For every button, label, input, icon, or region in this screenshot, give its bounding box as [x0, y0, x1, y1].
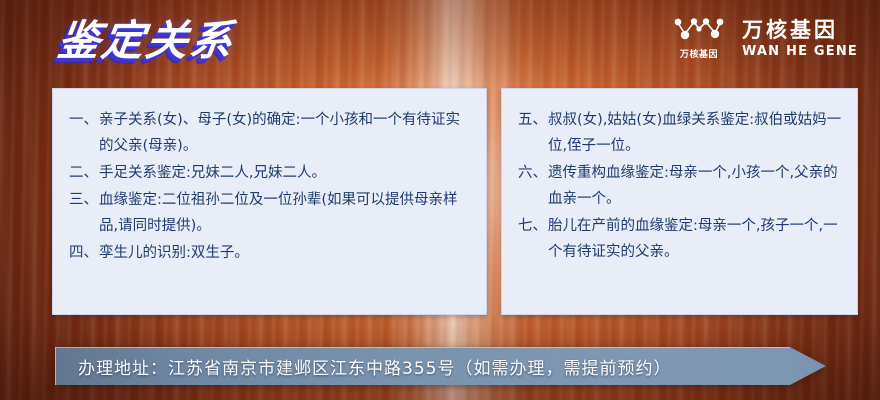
list-item-text: 叔叔(女),姑姑(女)血绿关系鉴定:叔伯或姑妈一位,侄子一位。 [548, 107, 845, 159]
list-item-number: 一、 [69, 107, 99, 159]
molecule-node-icon [670, 16, 728, 44]
brand-wordmark: 万核基因 WAN HE GENE [742, 18, 858, 59]
poster-stage: 鉴定关系 [0, 0, 880, 400]
list-item-text: 手足关系鉴定:兄妹二人,兄妹二人。 [99, 160, 474, 186]
list-item: 三、 血缘鉴定:二位祖孙二位及一位孙辈(如果可以提供母亲样品,请同时提供)。 [69, 187, 474, 239]
panel-left: 一、 亲子关系(女)、母子(女)的确定:一个小孩和一个有待证实的父亲(母亲)。 … [52, 88, 487, 315]
page-title: 鉴定关系 [54, 14, 238, 68]
list-item-number: 七、 [518, 213, 548, 265]
list-item-text: 遗传重构血缘鉴定:母亲一个,小孩一个,父亲的血亲一个。 [548, 160, 845, 212]
address-banner-arrow-tip [790, 347, 826, 385]
list-item-number: 三、 [69, 187, 99, 239]
list-item-text: 血缘鉴定:二位祖孙二位及一位孙辈(如果可以提供母亲样品,请同时提供)。 [99, 187, 474, 239]
list-item-text: 孪生儿的识别:双生子。 [99, 240, 474, 266]
panel-right: 五、 叔叔(女),姑姑(女)血绿关系鉴定:叔伯或姑妈一位,侄子一位。 六、 遗传… [501, 88, 858, 315]
content-panels: 一、 亲子关系(女)、母子(女)的确定:一个小孩和一个有待证实的父亲(母亲)。 … [52, 88, 858, 315]
list-item-number: 六、 [518, 160, 548, 212]
list-item: 四、 孪生儿的识别:双生子。 [69, 240, 474, 266]
list-item-number: 四、 [69, 240, 99, 266]
list-item-text: 亲子关系(女)、母子(女)的确定:一个小孩和一个有待证实的父亲(母亲)。 [99, 107, 474, 159]
address-banner: 办理地址：江苏省南京市建邺区江东中路355号（如需办理，需提前预约） [55, 347, 826, 385]
brand-mark: 万核基因 [670, 16, 728, 60]
list-item-number: 五、 [518, 107, 548, 159]
list-item: 一、 亲子关系(女)、母子(女)的确定:一个小孩和一个有待证实的父亲(母亲)。 [69, 107, 474, 159]
brand-name-en: WAN HE GENE [742, 44, 858, 59]
brand-name-cn: 万核基因 [742, 18, 858, 43]
list-item: 七、 胎儿在产前的血缘鉴定:母亲一个,孩子一个,一个有待证实的父亲。 [518, 213, 845, 265]
list-item-text: 胎儿在产前的血缘鉴定:母亲一个,孩子一个,一个有待证实的父亲。 [548, 213, 845, 265]
address-banner-body: 办理地址：江苏省南京市建邺区江东中路355号（如需办理，需提前预约） [55, 347, 790, 385]
list-item: 二、 手足关系鉴定:兄妹二人,兄妹二人。 [69, 160, 474, 186]
list-item: 六、 遗传重构血缘鉴定:母亲一个,小孩一个,父亲的血亲一个。 [518, 160, 845, 212]
address-text: 办理地址：江苏省南京市建邺区江东中路355号（如需办理，需提前预约） [78, 354, 671, 379]
brand-mark-label: 万核基因 [680, 47, 718, 60]
list-item-number: 二、 [69, 160, 99, 186]
brand-logo: 万核基因 万核基因 WAN HE GENE [670, 16, 858, 60]
list-item: 五、 叔叔(女),姑姑(女)血绿关系鉴定:叔伯或姑妈一位,侄子一位。 [518, 107, 845, 159]
